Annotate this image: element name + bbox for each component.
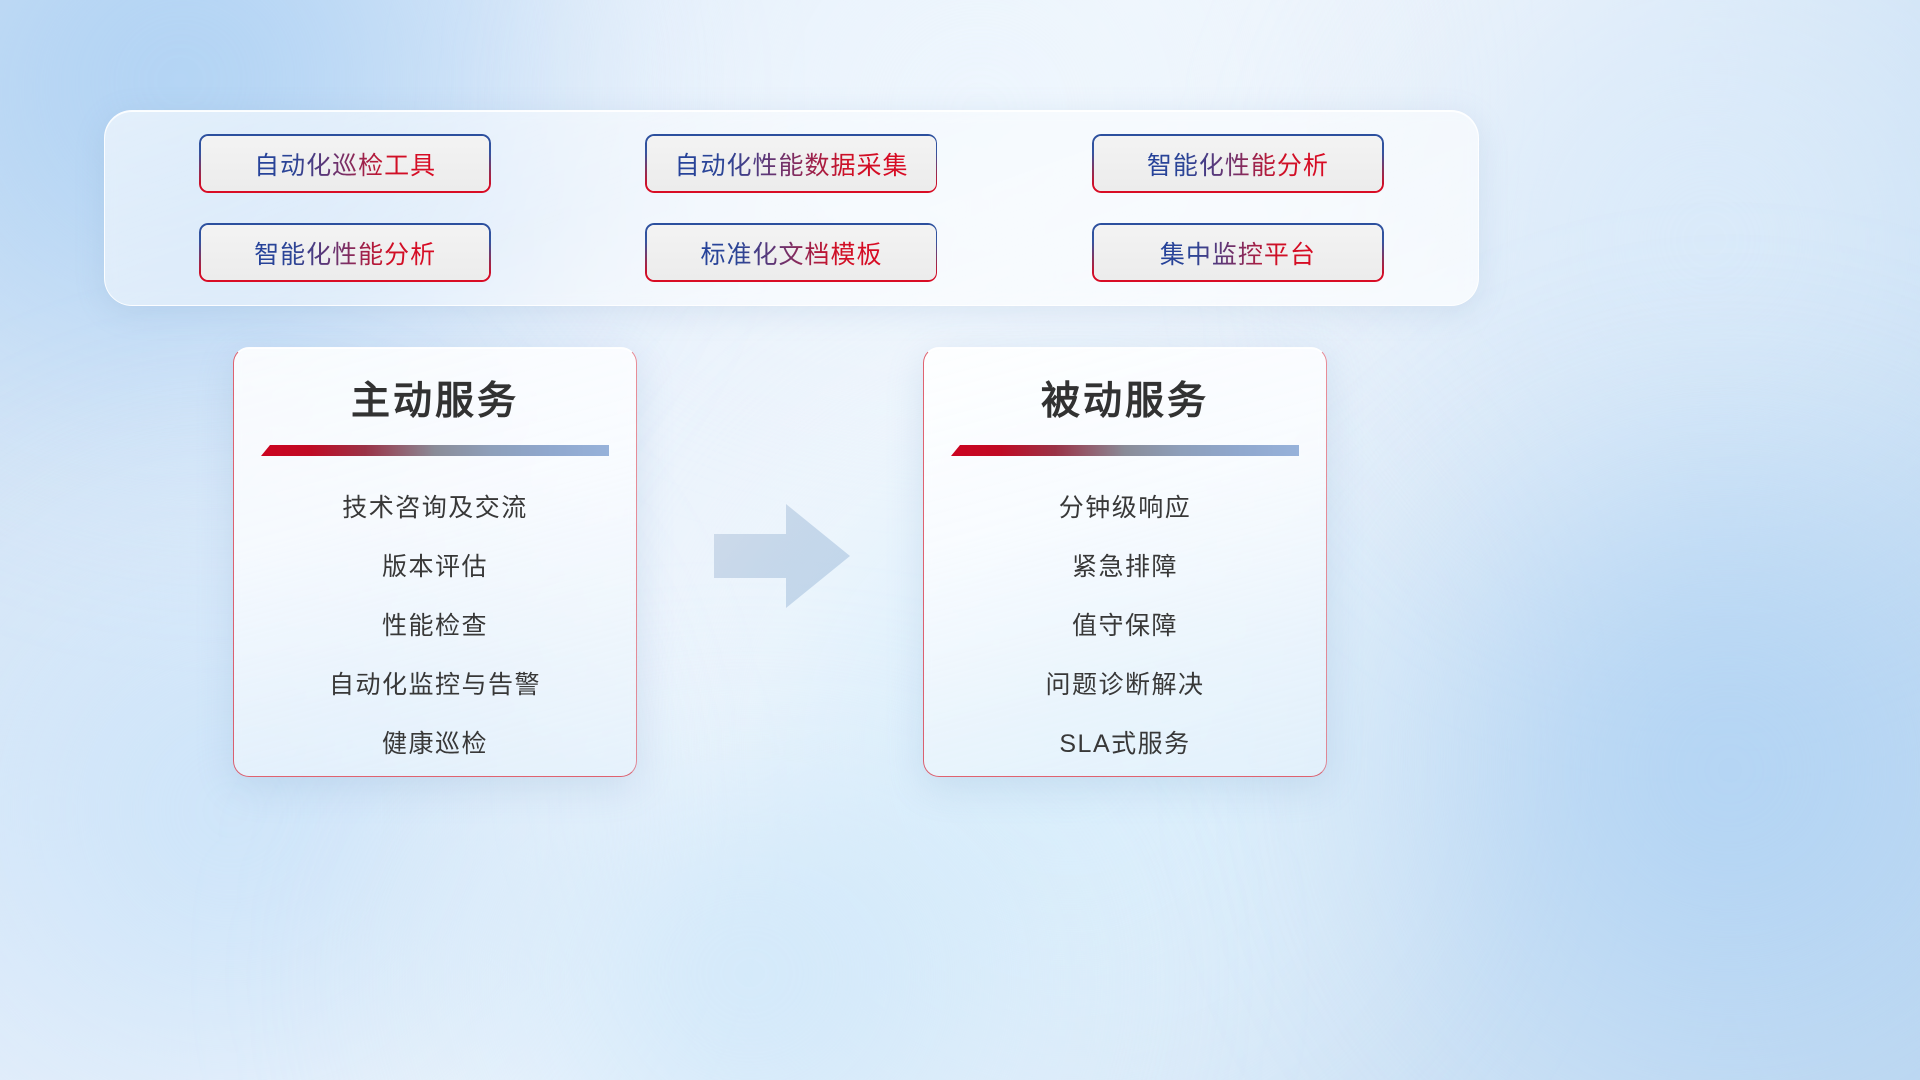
divider-gradient-bar xyxy=(951,445,1299,456)
list-item: 紧急排障 xyxy=(1072,538,1178,597)
service-item-list: 分钟级响应 紧急排障 值守保障 问题诊断解决 SLA式服务 xyxy=(924,479,1326,774)
capability-chip-automation-inspection-tool[interactable]: 自动化巡检工具 xyxy=(199,134,491,193)
service-card-proactive[interactable]: 主动服务 技术咨询及交流 版本评估 性能检查 自动化监控与告警 健康巡检 xyxy=(233,347,637,777)
list-item: 技术咨询及交流 xyxy=(342,479,528,538)
card-title: 被动服务 xyxy=(924,370,1326,426)
card-title-divider xyxy=(261,445,609,456)
chip-label: 自动化巡检工具 xyxy=(254,146,436,182)
card-title: 主动服务 xyxy=(234,370,636,426)
card-title-divider xyxy=(951,445,1299,456)
service-card-reactive[interactable]: 被动服务 分钟级响应 紧急排障 值守保障 问题诊断解决 SLA式服务 xyxy=(923,347,1327,777)
capability-panel: 自动化巡检工具 自动化性能数据采集 智能化性能分析 智能化性能分析 标准化文档模… xyxy=(104,110,1479,306)
capability-chip-intelligent-performance-analysis-top[interactable]: 智能化性能分析 xyxy=(1092,134,1384,193)
list-item: 值守保障 xyxy=(1072,597,1178,656)
capability-chip-grid: 自动化巡检工具 自动化性能数据采集 智能化性能分析 智能化性能分析 标准化文档模… xyxy=(105,111,1478,305)
list-item: 性能检查 xyxy=(382,597,488,656)
chip-label: 智能化性能分析 xyxy=(1147,146,1329,182)
divider-gradient-bar xyxy=(261,445,609,456)
chip-label: 集中监控平台 xyxy=(1160,235,1316,271)
chip-label: 自动化性能数据采集 xyxy=(674,146,908,182)
arrow-right-icon xyxy=(712,500,852,612)
service-item-list: 技术咨询及交流 版本评估 性能检查 自动化监控与告警 健康巡检 xyxy=(234,479,636,774)
list-item: 分钟级响应 xyxy=(1059,479,1192,538)
chip-label: 智能化性能分析 xyxy=(254,235,436,271)
list-item: SLA式服务 xyxy=(1059,715,1190,774)
capability-chip-automation-performance-data-collection[interactable]: 自动化性能数据采集 xyxy=(645,134,937,193)
list-item: 健康巡检 xyxy=(382,715,488,774)
list-item: 自动化监控与告警 xyxy=(329,656,541,715)
capability-chip-standardized-document-template[interactable]: 标准化文档模板 xyxy=(645,223,937,282)
list-item: 版本评估 xyxy=(382,538,488,597)
capability-chip-centralized-monitoring-platform[interactable]: 集中监控平台 xyxy=(1092,223,1384,282)
chip-label: 标准化文档模板 xyxy=(700,235,882,271)
list-item: 问题诊断解决 xyxy=(1045,656,1204,715)
capability-chip-intelligent-performance-analysis-bottom[interactable]: 智能化性能分析 xyxy=(199,223,491,282)
